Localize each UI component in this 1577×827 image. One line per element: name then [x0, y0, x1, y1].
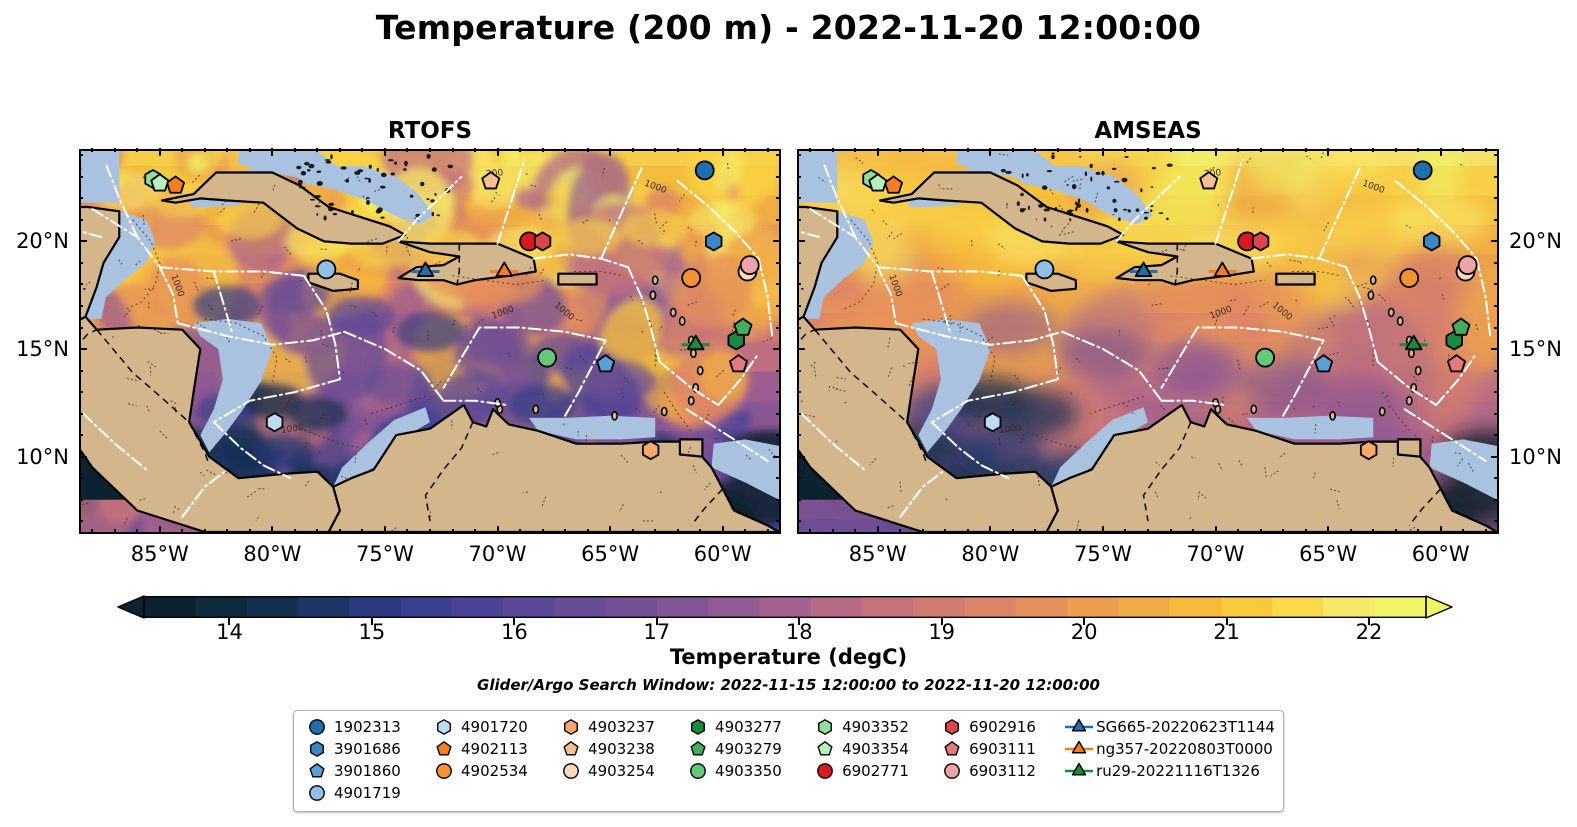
hexagon-marker-icon [556, 717, 586, 737]
y-tick-minor [1494, 176, 1498, 178]
x-tick-minor [767, 148, 769, 152]
x-tick-minor [316, 529, 318, 533]
y-tick-minor [797, 305, 801, 307]
legend-item-label: ru29-20221116T1326 [1094, 762, 1260, 780]
y-tick-major [773, 348, 781, 350]
x-tick-minor [181, 529, 183, 533]
x-tick-minor [339, 148, 341, 152]
y-tick-minor [776, 154, 780, 156]
hexagon-marker-icon [302, 739, 332, 759]
x-tick-minor [1305, 529, 1307, 533]
y-tick-minor [797, 434, 801, 436]
y-tick-label-right: 15°N [1509, 337, 1577, 361]
x-tick-minor [967, 529, 969, 533]
colorbar-gradient [118, 596, 1452, 618]
y-tick-minor [79, 219, 83, 221]
legend-item-label: 6902916 [967, 718, 1036, 736]
map-panel-amseas[interactable]: 10002001000100010001000 [797, 149, 1499, 534]
y-tick-minor [79, 391, 83, 393]
x-tick-minor [429, 148, 431, 152]
colorbar-label: Temperature (degC) [0, 645, 1577, 669]
x-tick-minor [677, 148, 679, 152]
x-tick-minor [361, 529, 363, 533]
x-tick-major [1215, 526, 1217, 534]
legend-column: 490327749032794903350 [683, 717, 810, 803]
x-tick-major [1102, 148, 1104, 156]
y-tick-minor [79, 176, 83, 178]
x-tick-minor [899, 148, 901, 152]
x-tick-minor [1395, 529, 1397, 533]
x-tick-minor [832, 529, 834, 533]
x-tick-minor [1192, 148, 1194, 152]
legend-item[interactable]: 4903238 [556, 739, 683, 759]
y-tick-minor [79, 413, 83, 415]
x-tick-minor [1124, 148, 1126, 152]
circle-marker-icon [937, 761, 967, 781]
y-tick-minor [1494, 413, 1498, 415]
legend-item-label: 6903111 [967, 740, 1036, 758]
x-tick-minor [91, 529, 93, 533]
pentagon-marker-icon [302, 761, 332, 781]
y-tick-minor [776, 283, 780, 285]
legend-item[interactable]: ng357-20220803T0000 [1064, 739, 1275, 759]
y-tick-minor [797, 477, 801, 479]
x-tick-minor [922, 529, 924, 533]
circle-marker-icon [556, 761, 586, 781]
legend-item[interactable]: 4902534 [429, 761, 556, 781]
search-window-caption: Glider/Argo Search Window: 2022-11-15 12… [0, 676, 1577, 694]
legend-column: 490172049021134902534 [429, 717, 556, 803]
x-tick-label: 75°W [1043, 542, 1163, 566]
y-tick-major [79, 240, 87, 242]
x-tick-major [1102, 526, 1104, 534]
x-tick-major [497, 526, 499, 534]
y-tick-minor [79, 197, 83, 199]
pentagon-marker-icon [556, 739, 586, 759]
x-tick-major [989, 148, 991, 156]
x-tick-minor [249, 529, 251, 533]
colorbar[interactable] [118, 596, 1452, 618]
legend-item-label: 3901686 [332, 740, 401, 758]
x-tick-minor [922, 148, 924, 152]
legend-item[interactable]: 4903350 [683, 761, 810, 781]
x-tick-major [271, 526, 273, 534]
y-tick-minor [79, 262, 83, 264]
x-tick-major [609, 148, 611, 156]
map-canvas-rtofs: 10002001000100010001000 [81, 151, 779, 532]
x-tick-minor [1462, 148, 1464, 152]
y-tick-major [797, 456, 805, 458]
y-tick-minor [776, 219, 780, 221]
x-tick-minor [944, 529, 946, 533]
x-tick-minor [1124, 529, 1126, 533]
x-tick-label: 75°W [325, 542, 445, 566]
x-tick-minor [519, 148, 521, 152]
x-tick-minor [294, 529, 296, 533]
x-tick-minor [564, 529, 566, 533]
y-tick-label-left: 15°N [0, 337, 69, 361]
x-tick-major [609, 526, 611, 534]
x-tick-minor [1417, 529, 1419, 533]
x-tick-label: 60°W [663, 542, 783, 566]
y-tick-minor [1494, 327, 1498, 329]
legend-item[interactable]: 4902113 [429, 739, 556, 759]
colorbar-tick-label: 19 [892, 620, 992, 644]
x-tick-label: 65°W [1268, 542, 1388, 566]
y-tick-major [1491, 348, 1499, 350]
x-tick-minor [587, 529, 589, 533]
legend-item[interactable]: 4903279 [683, 739, 810, 759]
x-tick-minor [1282, 529, 1284, 533]
x-tick-minor [1079, 148, 1081, 152]
y-tick-minor [776, 391, 780, 393]
y-tick-minor [79, 327, 83, 329]
x-tick-minor [1282, 148, 1284, 152]
x-tick-minor [406, 529, 408, 533]
x-tick-minor [1192, 529, 1194, 533]
x-tick-minor [967, 148, 969, 152]
y-tick-major [773, 456, 781, 458]
x-tick-minor [654, 529, 656, 533]
x-tick-label: 70°W [1156, 542, 1276, 566]
legend-item-label: 4902534 [459, 762, 528, 780]
x-tick-major [1215, 148, 1217, 156]
x-tick-minor [1372, 148, 1374, 152]
legend-item-label: 4903237 [586, 718, 655, 736]
y-tick-minor [797, 176, 801, 178]
x-tick-minor [429, 529, 431, 533]
x-tick-major [1440, 148, 1442, 156]
map-panel-rtofs[interactable]: 10002001000100010001000 [79, 149, 781, 534]
y-tick-major [1491, 240, 1499, 242]
legend-item-label: 4903238 [586, 740, 655, 758]
x-tick-minor [677, 529, 679, 533]
y-tick-minor [776, 197, 780, 199]
legend-item-label: 1902313 [332, 718, 401, 736]
pentagon-marker-icon [810, 739, 840, 759]
y-tick-minor [79, 520, 83, 522]
y-tick-minor [1494, 370, 1498, 372]
panel-title-amseas: AMSEAS [797, 118, 1499, 144]
y-tick-major [797, 240, 805, 242]
x-tick-minor [452, 148, 454, 152]
y-tick-minor [79, 305, 83, 307]
y-tick-minor [797, 370, 801, 372]
x-tick-minor [744, 148, 746, 152]
y-tick-minor [1494, 520, 1498, 522]
x-tick-minor [1034, 148, 1036, 152]
colorbar-tick-label: 14 [179, 620, 279, 644]
circle-marker-icon [810, 761, 840, 781]
x-tick-label: 80°W [212, 542, 332, 566]
x-tick-minor [1057, 529, 1059, 533]
x-tick-major [159, 148, 161, 156]
x-tick-major [722, 526, 724, 534]
legend-column: 690291669031116903112 [937, 717, 1064, 803]
x-tick-minor [361, 148, 363, 152]
y-tick-minor [79, 499, 83, 501]
y-tick-minor [1494, 391, 1498, 393]
x-tick-minor [654, 148, 656, 152]
y-tick-minor [776, 413, 780, 415]
y-tick-minor [797, 499, 801, 501]
x-tick-minor [474, 529, 476, 533]
x-tick-minor [587, 148, 589, 152]
colorbar-tick-label: 16 [464, 620, 564, 644]
x-tick-minor [699, 529, 701, 533]
x-tick-major [1327, 526, 1329, 534]
legend-item-label: SG665-20220623T1144 [1094, 718, 1275, 736]
x-tick-minor [1395, 148, 1397, 152]
legend-item-label: 6902771 [840, 762, 909, 780]
x-tick-minor [294, 148, 296, 152]
x-tick-label: 85°W [100, 542, 220, 566]
x-tick-minor [1237, 529, 1239, 533]
colorbar-tick-label: 15 [322, 620, 422, 644]
y-tick-minor [797, 327, 801, 329]
legend-item-label: 3901860 [332, 762, 401, 780]
page-title: Temperature (200 m) - 2022-11-20 12:00:0… [0, 8, 1577, 47]
x-tick-major [271, 148, 273, 156]
x-tick-minor [406, 148, 408, 152]
hexagon-marker-icon [683, 717, 713, 737]
x-tick-minor [204, 529, 206, 533]
x-tick-minor [1350, 529, 1352, 533]
x-tick-minor [136, 529, 138, 533]
x-tick-minor [249, 148, 251, 152]
legend-item[interactable]: 4903254 [556, 761, 683, 781]
pentagon-marker-icon [683, 739, 713, 759]
y-tick-major [797, 348, 805, 350]
x-tick-minor [854, 148, 856, 152]
y-tick-major [773, 240, 781, 242]
x-tick-minor [1260, 148, 1262, 152]
y-tick-minor [1494, 283, 1498, 285]
x-tick-minor [181, 148, 183, 152]
x-tick-minor [1034, 529, 1036, 533]
y-tick-minor [797, 262, 801, 264]
legend-item[interactable]: SG665-20220623T1144 [1064, 717, 1275, 737]
y-tick-minor [797, 154, 801, 156]
y-tick-minor [79, 370, 83, 372]
legend-item-label: 4903254 [586, 762, 655, 780]
x-tick-label: 65°W [550, 542, 670, 566]
y-tick-minor [797, 219, 801, 221]
legend-item[interactable]: 1902313 [302, 717, 429, 737]
y-tick-label-right: 20°N [1509, 229, 1577, 253]
y-tick-minor [776, 499, 780, 501]
legend-item[interactable]: 4903277 [683, 717, 810, 737]
y-tick-minor [776, 434, 780, 436]
y-tick-minor [1494, 434, 1498, 436]
legend-item[interactable]: 4903237 [556, 717, 683, 737]
y-tick-major [79, 456, 87, 458]
x-tick-minor [632, 148, 634, 152]
y-tick-minor [776, 176, 780, 178]
y-tick-minor [797, 413, 801, 415]
y-tick-label-left: 20°N [0, 229, 69, 253]
legend-item-label: 4901720 [459, 718, 528, 736]
x-tick-minor [316, 148, 318, 152]
legend-column: 490323749032384903254 [556, 717, 683, 803]
x-tick-label: 80°W [930, 542, 1050, 566]
triangle-marker-icon [1064, 761, 1094, 781]
legend-item[interactable]: ru29-20221116T1326 [1064, 761, 1275, 781]
legend-column: SG665-20220623T1144ng357-20220803T0000ru… [1064, 717, 1275, 803]
circle-marker-icon [429, 761, 459, 781]
y-tick-minor [1494, 197, 1498, 199]
x-tick-major [989, 526, 991, 534]
y-tick-minor [797, 520, 801, 522]
x-tick-minor [1147, 148, 1149, 152]
x-tick-minor [632, 529, 634, 533]
x-tick-minor [1372, 529, 1374, 533]
legend-item-label: 4903354 [840, 740, 909, 758]
x-tick-minor [1147, 529, 1149, 533]
x-tick-major [722, 148, 724, 156]
legend-column: 1902313390168639018604901719 [302, 717, 429, 803]
x-tick-minor [339, 529, 341, 533]
legend-item-label: 6903112 [967, 762, 1036, 780]
x-tick-minor [1260, 529, 1262, 533]
colorbar-tick-label: 17 [607, 620, 707, 644]
hexagon-marker-icon [810, 717, 840, 737]
x-tick-minor [114, 529, 116, 533]
pentagon-marker-icon [937, 739, 967, 759]
legend-item-label: 4902113 [459, 740, 528, 758]
y-tick-minor [776, 305, 780, 307]
y-tick-minor [1494, 499, 1498, 501]
x-tick-minor [1417, 148, 1419, 152]
x-tick-major [877, 148, 879, 156]
x-tick-minor [226, 529, 228, 533]
x-tick-label: 60°W [1381, 542, 1501, 566]
x-tick-minor [899, 529, 901, 533]
y-tick-minor [1494, 305, 1498, 307]
x-tick-minor [1237, 148, 1239, 152]
legend-item[interactable]: 6902771 [810, 761, 937, 781]
x-tick-minor [1485, 148, 1487, 152]
legend-item[interactable]: 4901719 [302, 783, 429, 803]
y-tick-minor [1494, 219, 1498, 221]
x-tick-minor [1350, 148, 1352, 152]
y-tick-minor [79, 283, 83, 285]
legend-item[interactable]: 3901686 [302, 739, 429, 759]
x-tick-minor [542, 529, 544, 533]
x-tick-minor [1170, 148, 1172, 152]
legend-item[interactable]: 6902916 [937, 717, 1064, 737]
legend-item-label: 4901719 [332, 784, 401, 802]
legend-item-label: 4903352 [840, 718, 909, 736]
hexagon-marker-icon [429, 717, 459, 737]
x-tick-minor [699, 148, 701, 152]
y-tick-label-right: 10°N [1509, 445, 1577, 469]
legend-columns: 1902313390168639018604901719490172049021… [302, 717, 1275, 803]
circle-marker-icon [683, 761, 713, 781]
legend-item[interactable]: 4901720 [429, 717, 556, 737]
y-tick-major [79, 348, 87, 350]
x-tick-major [1327, 148, 1329, 156]
legend-item-label: 4903277 [713, 718, 782, 736]
y-tick-minor [797, 391, 801, 393]
x-tick-minor [1170, 529, 1172, 533]
colorbar-tick-label: 18 [749, 620, 849, 644]
x-tick-minor [226, 148, 228, 152]
x-tick-minor [767, 529, 769, 533]
y-tick-minor [776, 477, 780, 479]
x-tick-minor [519, 529, 521, 533]
y-tick-minor [797, 197, 801, 199]
y-tick-label-left: 10°N [0, 445, 69, 469]
x-tick-minor [809, 148, 811, 152]
map-canvas-amseas: 10002001000100010001000 [799, 151, 1497, 532]
colorbar-tick-label: 20 [1034, 620, 1134, 644]
x-tick-minor [1462, 529, 1464, 533]
x-tick-minor [474, 148, 476, 152]
colorbar-tick-label: 22 [1319, 620, 1419, 644]
panel-title-rtofs: RTOFS [79, 118, 781, 144]
y-tick-minor [776, 370, 780, 372]
x-tick-minor [744, 529, 746, 533]
circle-marker-icon [302, 717, 332, 737]
x-tick-minor [564, 148, 566, 152]
y-tick-minor [797, 283, 801, 285]
x-tick-minor [542, 148, 544, 152]
y-tick-major [1491, 456, 1499, 458]
x-tick-minor [1012, 148, 1014, 152]
legend-item[interactable]: 6903112 [937, 761, 1064, 781]
x-tick-minor [452, 529, 454, 533]
circle-marker-icon [302, 783, 332, 803]
y-tick-minor [79, 477, 83, 479]
x-tick-major [1440, 526, 1442, 534]
x-tick-minor [1012, 529, 1014, 533]
x-tick-major [159, 526, 161, 534]
y-tick-minor [776, 327, 780, 329]
legend-item[interactable]: 4903354 [810, 739, 937, 759]
legend[interactable]: 1902313390168639018604901719490172049021… [293, 710, 1284, 812]
y-tick-minor [776, 262, 780, 264]
triangle-marker-icon [1064, 739, 1094, 759]
x-tick-label: 85°W [818, 542, 938, 566]
pentagon-marker-icon [429, 739, 459, 759]
x-tick-major [384, 148, 386, 156]
x-tick-minor [944, 148, 946, 152]
x-tick-minor [832, 148, 834, 152]
legend-item[interactable]: 6903111 [937, 739, 1064, 759]
hexagon-marker-icon [937, 717, 967, 737]
colorbar-tick-label: 21 [1177, 620, 1277, 644]
y-tick-minor [776, 520, 780, 522]
x-tick-major [384, 526, 386, 534]
legend-item[interactable]: 4903352 [810, 717, 937, 737]
x-tick-minor [114, 148, 116, 152]
y-tick-minor [1494, 477, 1498, 479]
legend-item-label: 4903279 [713, 740, 782, 758]
triangle-marker-icon [1064, 717, 1094, 737]
y-tick-minor [1494, 154, 1498, 156]
x-tick-minor [809, 529, 811, 533]
legend-item-label: 4903350 [713, 762, 782, 780]
x-tick-minor [1079, 529, 1081, 533]
y-tick-minor [1494, 262, 1498, 264]
x-tick-label: 70°W [438, 542, 558, 566]
x-tick-major [497, 148, 499, 156]
legend-item[interactable]: 3901860 [302, 761, 429, 781]
x-tick-minor [1057, 148, 1059, 152]
x-tick-minor [1485, 529, 1487, 533]
x-tick-major [877, 526, 879, 534]
